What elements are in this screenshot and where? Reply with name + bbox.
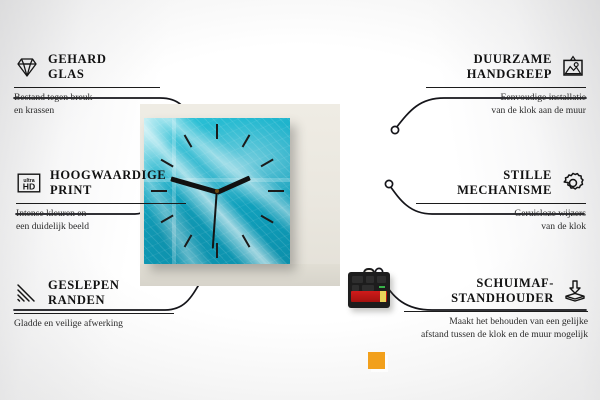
feature-desc-line2: en krassen xyxy=(14,105,174,118)
svg-text:HD: HD xyxy=(23,182,35,192)
feature-description: Intense kleuren en een duidelijk beeld xyxy=(16,208,196,234)
feature-title-line1: GESLEPEN xyxy=(48,278,120,293)
mechanism-slot-b xyxy=(366,276,374,283)
feature-header: GEHARD GLAS xyxy=(14,52,174,83)
mechanism-slot-c xyxy=(377,276,386,283)
clock-hand-hub xyxy=(215,189,219,193)
mechanism-indicator-led xyxy=(379,286,385,288)
feature-title-line1: HOOGWAARDIGE xyxy=(50,168,166,183)
feature-header: GESLEPEN RANDEN xyxy=(14,278,186,309)
feature-desc-line2: van de klok xyxy=(416,221,586,234)
feature-duurzame-handgreep: DUURZAME HANDGREEP Eenvoudige installati… xyxy=(426,52,586,118)
feature-title-line1: STILLE xyxy=(457,168,552,183)
ultra-hd-icon: ultra HD xyxy=(16,171,42,195)
tick-6 xyxy=(216,243,218,258)
diamond-icon xyxy=(14,55,40,79)
feature-description: Maakt het behouden van een gelijke afsta… xyxy=(404,316,588,342)
feature-gehard-glas: GEHARD GLAS Bestand tegen breuk en krass… xyxy=(14,52,174,118)
clock-mechanism xyxy=(348,268,390,308)
infographic-canvas: GEHARD GLAS Bestand tegen breuk en krass… xyxy=(0,0,600,400)
feature-title-line2: HANDGREEP xyxy=(467,67,552,82)
feature-description: Gladde en veilige afwerking xyxy=(14,318,186,331)
feature-desc-line1: Eenvoudige installatie xyxy=(426,92,586,105)
feature-title: SCHUIMAF- STANDHOUDER xyxy=(451,276,554,307)
feature-title: GEHARD GLAS xyxy=(48,52,106,83)
feature-description: Geruisloze wijzers van de klok xyxy=(416,208,586,234)
press-down-pad-icon xyxy=(562,279,588,303)
feature-divider xyxy=(14,313,174,314)
feature-divider xyxy=(404,311,588,312)
battery-positive-terminal xyxy=(380,291,386,302)
feature-header: DUURZAME HANDGREEP xyxy=(426,52,586,83)
feature-description: Eenvoudige installatie van de klok aan d… xyxy=(426,92,586,118)
feature-header: ultra HD HOOGWAARDIGE PRINT xyxy=(16,168,196,199)
foam-spacer-pad xyxy=(368,352,385,369)
endpoint-dot-duurzame-handgreep xyxy=(391,126,398,133)
feature-schuim-standhouder: SCHUIMAF- STANDHOUDER Maakt het behouden… xyxy=(404,276,588,342)
picture-frame-icon xyxy=(560,55,586,79)
mechanism-slot-a xyxy=(352,276,363,283)
tick-12 xyxy=(216,124,218,139)
feature-divider xyxy=(16,203,186,204)
feature-title-line2: MECHANISME xyxy=(457,183,552,198)
feature-header: SCHUIMAF- STANDHOUDER xyxy=(404,276,588,307)
feature-title-line1: SCHUIMAF- xyxy=(451,276,554,291)
feature-desc-line1: Gladde en veilige afwerking xyxy=(14,318,186,331)
feature-desc-line2: van de klok aan de muur xyxy=(426,105,586,118)
feature-title-line2: PRINT xyxy=(50,183,166,198)
feature-title-line2: STANDHOUDER xyxy=(451,291,554,306)
feature-title-line1: DUURZAME xyxy=(467,52,552,67)
feature-description: Bestand tegen breuk en krassen xyxy=(14,92,174,118)
feature-desc-line1: Bestand tegen breuk xyxy=(14,92,174,105)
feature-title: STILLE MECHANISME xyxy=(457,168,552,199)
feature-title-line2: RANDEN xyxy=(48,293,120,308)
feature-title-line1: GEHARD xyxy=(48,52,106,67)
endpoint-dot-stille-mechanisme xyxy=(385,180,392,187)
feature-stille-mechanisme: STILLE MECHANISME Geruisloze wijzers van… xyxy=(416,168,586,234)
feature-desc-line1: Intense kleuren en xyxy=(16,208,196,221)
feature-desc-line2: een duidelijk beeld xyxy=(16,221,196,234)
feature-divider xyxy=(14,87,160,88)
feature-desc-line1: Maakt het behouden van een gelijke xyxy=(404,316,588,329)
beveled-edges-icon xyxy=(14,281,40,305)
feature-geslepen-randen: GESLEPEN RANDEN Gladde en veilige afwerk… xyxy=(14,278,186,331)
feature-header: STILLE MECHANISME xyxy=(416,168,586,199)
mechanism-body xyxy=(348,272,390,308)
feature-hoogwaardige-print: ultra HD HOOGWAARDIGE PRINT Intense kleu… xyxy=(16,168,196,234)
gear-icon xyxy=(560,171,586,195)
feature-desc-line2: afstand tussen de klok en de muur mogeli… xyxy=(404,329,588,342)
feature-title: HOOGWAARDIGE PRINT xyxy=(50,168,166,199)
feature-desc-line1: Geruisloze wijzers xyxy=(416,208,586,221)
feature-title: GESLEPEN RANDEN xyxy=(48,278,120,309)
feature-divider xyxy=(426,87,586,88)
feature-title: DUURZAME HANDGREEP xyxy=(467,52,552,83)
tick-3 xyxy=(268,190,284,193)
feature-title-line2: GLAS xyxy=(48,67,106,82)
feature-divider xyxy=(416,203,586,204)
